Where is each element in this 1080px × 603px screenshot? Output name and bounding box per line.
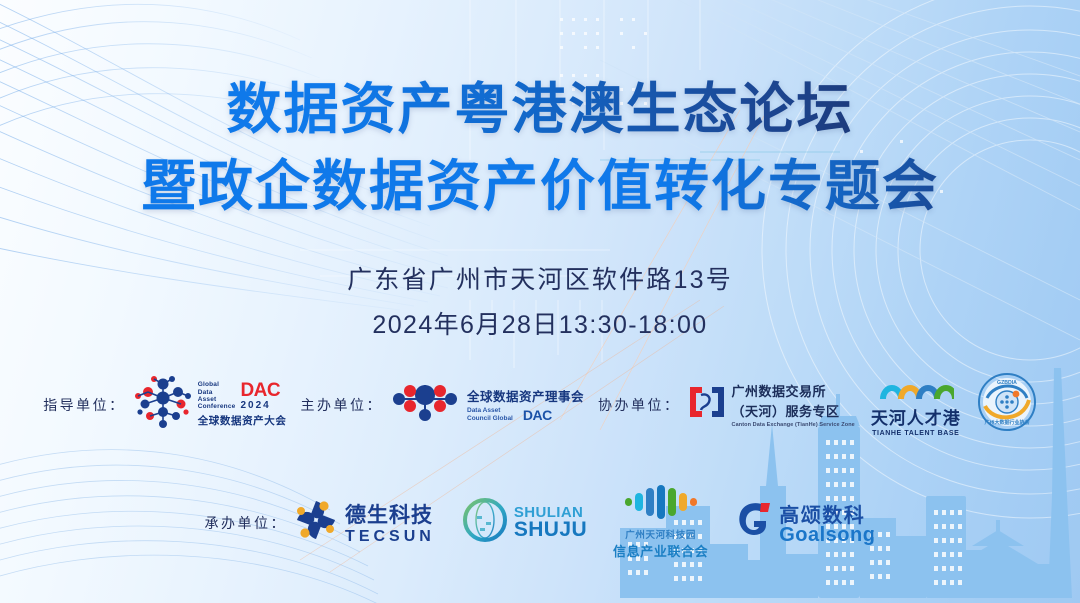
partner-group-guidance: 指导单位： [43,374,286,435]
tianhe-cn-name: 天河人才港 [871,404,961,429]
goalsong-en-name: Goalsong [779,524,875,547]
globe-circle-icon [461,496,509,549]
title-line-1: 数据资产粤港澳生态论坛 [0,78,1080,141]
shulian-en-line-2: SHUJU [514,518,587,542]
logo-tianhe-tech-park-union[interactable]: 广州天河科技园 信息产业联合会 [613,485,708,560]
tech-park-cn-line-1: 广州天河科技园 [613,527,708,541]
council-abbr: DAC [523,407,552,423]
partner-logos: 指导单位： [0,372,1080,560]
partner-row-1: 指导单位： [0,372,1080,437]
dac-cn-name: 全球数据资产大会 [198,413,287,428]
molecule-node-icon [389,375,461,434]
logo-dac-council[interactable]: 全球数据资产理事会 Data Asset Council Global DAC [389,375,584,434]
cde-cn-line-2: （天河）服务专区 [732,401,855,420]
dac-en-line-1: Global [198,381,236,388]
dac-en-line-3: Asset [198,396,236,403]
gzbdia-cn-label: 广州大数据行业协会 [984,419,1029,426]
partner-group-host: 主办单位： [301,375,585,434]
logo-tianhe-talent-base[interactable]: 天河人才港 TIANHE TALENT BASE [871,373,961,437]
dac-en-line-4: Conference [198,403,236,410]
logo-shulian-shuju[interactable]: SHULIAN SHUJU [461,496,587,549]
dac-abbr: DAC [240,382,280,399]
cde-text: 广州数据交易所 （天河）服务专区 Canton Data Exchange (T… [732,381,855,428]
tianhe-text: 天河人才港 TIANHE TALENT BASE [871,404,961,437]
soundwave-bars-icon [623,485,699,524]
council-cn-name: 全球数据资产理事会 [467,386,584,405]
tecsun-text: 德生科技 TECSUN [345,499,435,546]
tecsun-en-name: TECSUN [345,528,435,546]
cde-en-name: Canton Data Exchange (TianHe) Service Zo… [732,422,855,428]
goalsong-g-icon [734,499,774,546]
logo-tecsun[interactable]: 德生科技 TECSUN [293,497,435,548]
council-en-line-2: Council Global [467,415,513,423]
tech-park-cn-line-2: 信息产业联合会 [613,541,708,560]
arch-waves-icon [878,373,954,404]
partner-label-guidance: 指导单位： [43,395,126,415]
gzbdia-en-label: GZBDIA [997,380,1017,386]
cde-cn-line-1: 广州数据交易所 [732,381,855,400]
event-meta: 广东省广州市天河区软件路13号 2024年6月28日13:30-18:00 [0,262,1080,344]
partner-label-host: 主办单位： [301,395,384,415]
dac-council-text: 全球数据资产理事会 Data Asset Council Global DAC [467,386,584,423]
partner-group-coorganizer: 协办单位： 广州数据交易所 （天河）服务专区 Canton Data Excha… [598,372,1037,437]
tecsun-pinwheel-icon [293,497,339,548]
molecule-cluster-icon [132,374,194,435]
goalsong-text: 高颂数科 Goalsong [779,499,875,547]
dac-en-lines: Global Data Asset Conference [198,381,236,410]
logo-dac-conference[interactable]: Global Data Asset Conference DAC 2024 全球… [132,374,287,435]
shulian-text: SHULIAN SHUJU [514,504,587,542]
partner-label-organizer: 承办单位： [205,513,288,533]
logo-goalsong[interactable]: 高颂数科 Goalsong [734,499,875,547]
tianhe-en-name: TIANHE TALENT BASE [872,430,959,437]
poster-title: 数据资产粤港澳生态论坛 暨政企数据资产价值转化专题会 [0,78,1080,217]
circular-badge-icon: GZBDIA 广州大数据行业协会 [977,372,1037,437]
dac-conference-text: Global Data Asset Conference DAC 2024 全球… [198,381,287,427]
logo-gzbdia[interactable]: GZBDIA 广州大数据行业协会 [977,372,1037,437]
tecsun-cn-name: 德生科技 [345,499,435,529]
event-address: 广东省广州市天河区软件路13号 [0,262,1080,300]
partner-group-organizer: 承办单位： [205,485,876,560]
conference-poster: 数据资产粤港澳生态论坛 暨政企数据资产价值转化专题会 广东省广州市天河区软件路1… [0,0,1080,603]
tech-park-text: 广州天河科技园 信息产业联合会 [613,527,708,560]
logo-canton-data-exchange[interactable]: 广州数据交易所 （天河）服务专区 Canton Data Exchange (T… [687,381,855,428]
partner-label-coorganizer: 协办单位： [598,395,681,415]
title-line-2: 暨政企数据资产价值转化专题会 [0,155,1080,218]
dac-year: 2024 [240,400,280,411]
partner-row-2: 承办单位： [0,485,1080,560]
council-en-line-1: Data Asset [467,407,513,415]
cde-bracket-icon [687,381,727,428]
event-datetime: 2024年6月28日13:30-18:00 [0,307,1080,345]
dac-en-line-2: Data [198,389,236,396]
